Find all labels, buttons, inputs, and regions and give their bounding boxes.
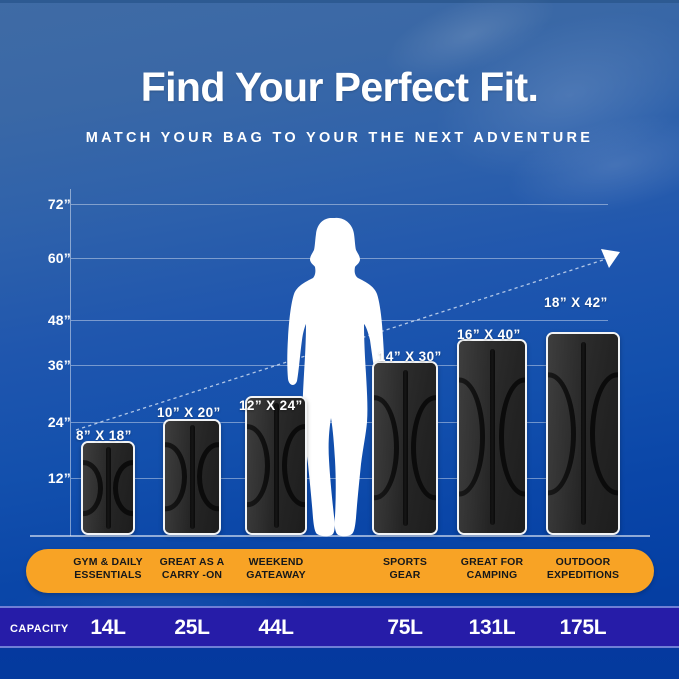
- bag-bar-1: [163, 419, 221, 535]
- bag-center-stripe: [490, 349, 495, 526]
- infographic-poster: Find Your Perfect Fit. MATCH YOUR BAG TO…: [0, 0, 679, 679]
- dimension-label-4: 16” X 40”: [457, 327, 521, 342]
- category-line: GREAT FOR: [440, 556, 544, 569]
- bag-bar-4: [457, 339, 527, 535]
- y-tick-2: 48”: [11, 312, 71, 328]
- capacity-strip: CAPACITY 14L25L44L75L131L175L: [0, 606, 679, 648]
- category-line: OUTDOOR: [531, 556, 635, 569]
- x-axis-baseline: [30, 535, 650, 537]
- y-tick-5: 12”: [11, 470, 71, 486]
- y-tick-4: 24”: [11, 414, 71, 430]
- category-line: CAMPING: [440, 569, 544, 582]
- capacity-value-5: 175L: [538, 616, 628, 640]
- category-line: WEEKEND: [224, 556, 328, 569]
- capacity-label: CAPACITY: [10, 623, 69, 635]
- dimension-label-3: 14” X 30”: [378, 349, 442, 364]
- dimension-label-0: 8” X 18”: [76, 428, 132, 443]
- capacity-value-4: 131L: [447, 616, 537, 640]
- footer-band: [0, 648, 679, 679]
- bag-gloss: [374, 363, 402, 533]
- capacity-value-0: 14L: [63, 616, 153, 640]
- dimension-label-2: 12” X 24”: [239, 398, 303, 413]
- bag-bar-0: [81, 441, 135, 535]
- bag-center-stripe: [274, 403, 279, 527]
- bag-gloss: [548, 334, 580, 533]
- category-line: GATEAWAY: [224, 569, 328, 582]
- y-tick-3: 36”: [11, 357, 71, 373]
- bag-bar-2: [245, 396, 307, 535]
- category-5: OUTDOOREXPEDITIONS: [531, 556, 635, 582]
- category-2: WEEKENDGATEAWAY: [224, 556, 328, 582]
- bag-center-stripe: [190, 425, 195, 528]
- bag-gloss: [165, 421, 189, 533]
- bag-center-stripe: [403, 370, 408, 526]
- dimension-label-1: 10” X 20”: [157, 405, 221, 420]
- bag-bar-5: [546, 332, 620, 535]
- gridline: [71, 204, 608, 205]
- y-tick-0: 72”: [11, 196, 71, 212]
- bag-gloss: [83, 443, 106, 533]
- bag-center-stripe: [581, 342, 586, 525]
- dimension-label-5: 18” X 42”: [544, 295, 608, 310]
- capacity-value-3: 75L: [360, 616, 450, 640]
- bag-gloss: [247, 398, 273, 533]
- capacity-value-2: 44L: [231, 616, 321, 640]
- bag-center-stripe: [106, 447, 111, 530]
- bag-bar-3: [372, 361, 438, 535]
- category-strip: GYM & DAILYESSENTIALSGREAT AS ACARRY -ON…: [26, 549, 654, 593]
- category-4: GREAT FORCAMPING: [440, 556, 544, 582]
- category-line: EXPEDITIONS: [531, 569, 635, 582]
- bag-gloss: [459, 341, 489, 533]
- y-tick-1: 60”: [11, 250, 71, 266]
- capacity-value-1: 25L: [147, 616, 237, 640]
